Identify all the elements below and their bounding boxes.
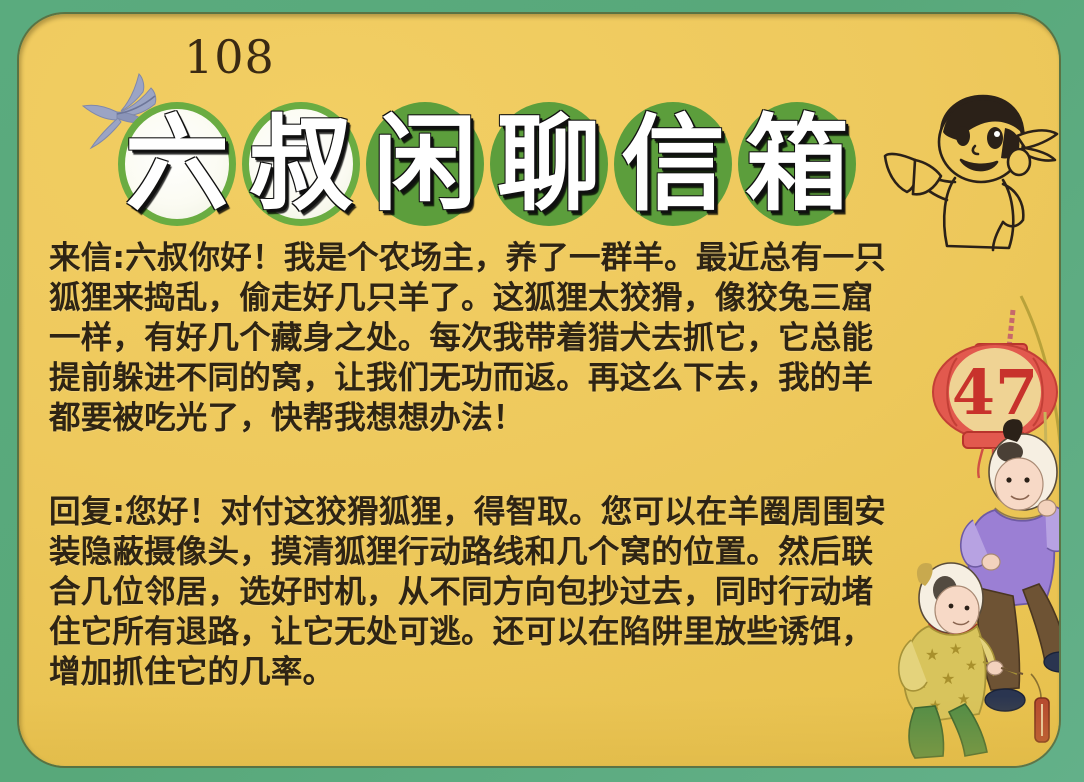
poster-title: 六 叔 闲 聊 信 箱 bbox=[111, 100, 855, 228]
title-glyph-3: 闲 bbox=[373, 112, 477, 216]
title-glyph-4: 聊 bbox=[497, 112, 601, 216]
title-char-6: 箱 bbox=[731, 100, 863, 228]
poster-canvas: 108 六 叔 bbox=[0, 0, 1084, 782]
reply-text: 回复:您好！对付这狡猾狐狸，得智取。您可以在羊圈周围安装隐蔽摄像头，摸清狐狸行动… bbox=[49, 492, 889, 692]
new-year-children-illustration: ★ ★ ★ ★ ★ ★ ★ bbox=[895, 412, 1059, 760]
cartoon-girl-with-letter-icon bbox=[885, 76, 1059, 266]
title-char-4: 聊 bbox=[483, 100, 615, 228]
svg-text:★: ★ bbox=[965, 658, 978, 674]
issue-number: 108 bbox=[184, 34, 275, 80]
title-glyph-2: 叔 bbox=[249, 112, 353, 216]
svg-text:★: ★ bbox=[925, 645, 939, 664]
yellow-card: 108 六 叔 bbox=[19, 14, 1059, 766]
svg-text:★: ★ bbox=[941, 669, 955, 688]
svg-text:★: ★ bbox=[949, 640, 962, 658]
title-glyph-6: 箱 bbox=[745, 112, 849, 216]
title-glyph-1: 六 bbox=[125, 112, 229, 216]
title-char-1: 六 bbox=[111, 100, 243, 228]
letter-text: 来信:六叔你好！我是个农场主，养了一群羊。最近总有一只狐狸来捣乱，偷走好几只羊了… bbox=[49, 238, 889, 438]
title-char-5: 信 bbox=[607, 100, 739, 228]
title-glyph-5: 信 bbox=[621, 112, 725, 216]
title-char-2: 叔 bbox=[235, 100, 367, 228]
title-char-3: 闲 bbox=[359, 100, 491, 228]
